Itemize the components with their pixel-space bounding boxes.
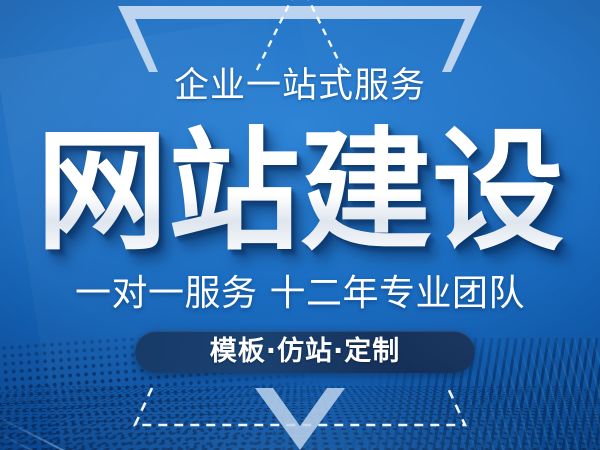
dashed-trapezoid-icon [135, 388, 465, 425]
top-dashed-v-icon [200, 0, 400, 72]
services-badge: 模板·仿站·定制 [135, 331, 475, 373]
bottom-decoration-group [0, 380, 600, 450]
page-title: 网站建设 [0, 124, 600, 260]
promo-poster: 企业一站式服务 网站建设 一对一服务 十二年专业团队 模板·仿站·定制 [0, 0, 600, 450]
services-badge-label: 模板·仿站·定制 [210, 338, 401, 366]
subtitle-text: 一对一服务 十二年专业团队 [0, 272, 600, 316]
v-chevron-icon [255, 388, 345, 450]
kicker-text: 企业一站式服务 [0, 64, 600, 108]
